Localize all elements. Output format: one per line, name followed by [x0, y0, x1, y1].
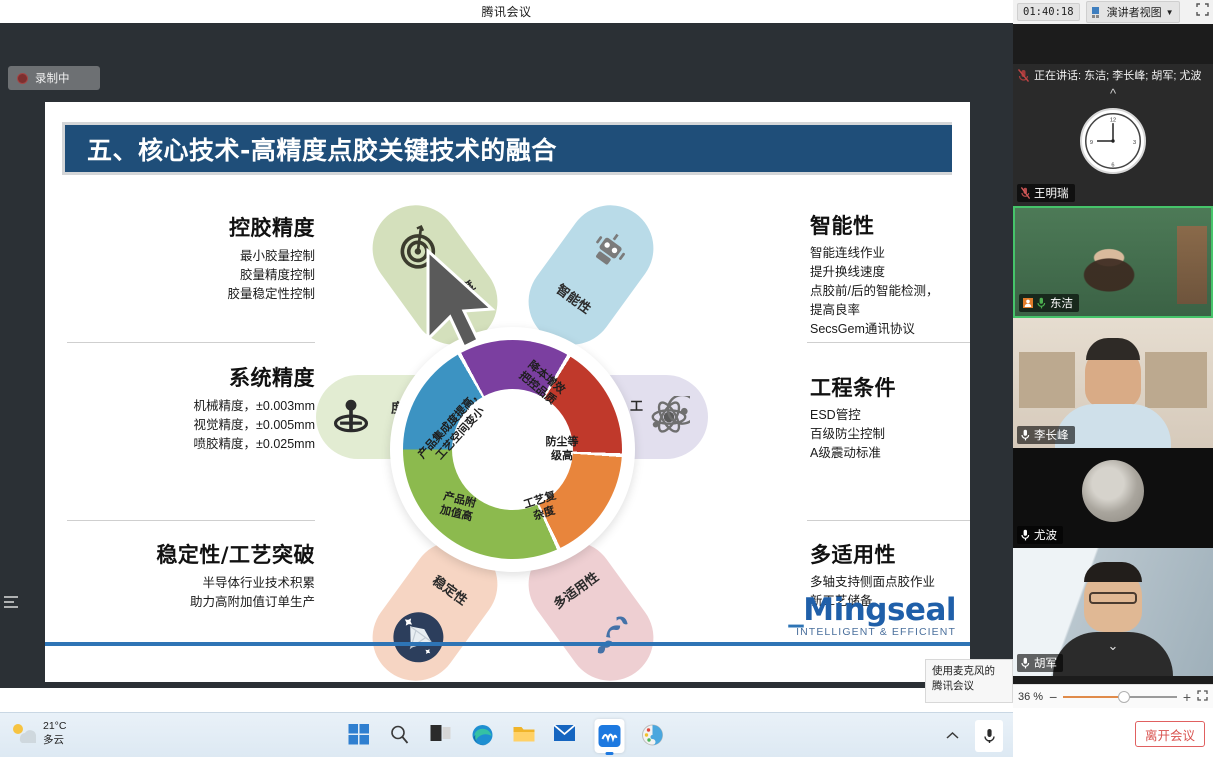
meeting-timer: 01:40:18 — [1017, 3, 1080, 21]
weather-temperature: 21°C — [43, 719, 66, 733]
petal-label: 智能性 — [534, 265, 615, 331]
microphone-icon — [1037, 297, 1046, 309]
zoom-control-bar: 36 % − + — [1013, 684, 1213, 708]
presentation-slide: 五、核心技术-高精度点胶关键技术的融合 控胶精度 最小胶量控制 胶量精度控制 胶… — [45, 102, 970, 682]
bookshelf-prop — [1177, 226, 1207, 304]
view-mode-label: 演讲者视图 — [1107, 4, 1162, 20]
window-title: 腾讯会议 — [481, 3, 531, 20]
block-heading: 稳定性/工艺突破 — [50, 539, 315, 569]
hair-shape — [1084, 562, 1142, 582]
meeting-side-panel: 01:40:18 演讲者视图 ▼ — [1013, 0, 1213, 757]
participant-name: 王明瑞 — [1034, 185, 1069, 201]
partly-cloudy-icon — [10, 721, 36, 745]
chevron-up-icon[interactable] — [946, 727, 959, 745]
microphone-muted-icon — [1021, 187, 1030, 199]
feature-block-system-precision: 系统精度 机械精度，±0.003mm 视觉精度，±0.005mm 喷胶精度，±0… — [70, 362, 315, 454]
microphone-tray-icon[interactable] — [975, 720, 1003, 752]
logo-wordmark: _Mingseal — [788, 592, 956, 628]
microphone-icon — [1021, 429, 1030, 441]
zoom-percent-label: 36 % — [1018, 691, 1043, 703]
block-heading: 多适用性 — [810, 539, 970, 569]
paint-icon[interactable] — [641, 724, 665, 748]
chevron-up-icon[interactable]: ^ — [1110, 86, 1116, 101]
feature-block-intelligence: 智能性 智能连线作业 提升换线速度 点胶前/后的智能检测， 提高良率 SecsG… — [810, 210, 970, 339]
shelf-prop — [1145, 352, 1207, 408]
edge-icon[interactable] — [471, 724, 495, 748]
svg-text:3: 3 — [1133, 140, 1136, 146]
record-dot-icon — [17, 73, 28, 84]
start-icon[interactable] — [348, 724, 372, 748]
file-explorer-icon[interactable] — [512, 724, 536, 748]
recording-indicator: 录制中 — [8, 66, 100, 90]
feature-block-stability: 稳定性/工艺突破 半导体行业技术积累 助力高附加值订单生产 — [50, 539, 315, 612]
microphone-tooltip: 使用麦克风的 腾讯会议 — [925, 659, 1013, 703]
host-badge-icon — [1023, 298, 1033, 308]
active-indicator — [605, 752, 613, 755]
block-line: A级震动标准 — [810, 444, 970, 463]
feature-block-control-precision: 控胶精度 最小胶量控制 胶量精度控制 胶量稳定性控制 — [85, 212, 315, 304]
svg-text:6: 6 — [1111, 162, 1114, 168]
slide-title-band: 五、核心技术-高精度点胶关键技术的融合 — [62, 122, 952, 175]
participant-tile-dongjie[interactable]: 东洁 — [1013, 206, 1213, 318]
system-tray — [946, 713, 1003, 757]
divider — [67, 520, 315, 521]
participant-name: 李长峰 — [1034, 427, 1069, 443]
block-line: 多轴支持侧面点胶作业 — [810, 573, 970, 592]
active-speaker-bar: 正在讲话: 东洁; 李长峰; 胡军; 尤波 — [1013, 64, 1213, 86]
leave-meeting-button[interactable]: 离开会议 — [1135, 721, 1205, 747]
meeting-footer: 离开会议 — [1013, 708, 1213, 757]
company-logo: _Mingseal INTELLIGENT & EFFICIENT — [788, 592, 956, 638]
block-line: 视觉精度，±0.005mm — [70, 416, 315, 435]
microphone-icon — [1021, 657, 1030, 669]
divider — [807, 342, 970, 343]
hexagon-petal-diagram: 控胶精度 智能性 — [310, 177, 710, 647]
block-line: 提升换线速度 — [810, 263, 970, 282]
meeting-toolbar: 01:40:18 演讲者视图 ▼ — [1013, 0, 1213, 24]
block-line: 最小胶量控制 — [85, 247, 315, 266]
block-line: 点胶前/后的智能检测， — [810, 282, 970, 301]
chevron-down-icon[interactable]: ⌄ — [1108, 638, 1119, 654]
block-line: SecsGem通讯协议 — [810, 320, 970, 339]
participant-name: 尤波 — [1034, 527, 1057, 543]
zoom-out-button[interactable]: − — [1049, 690, 1057, 704]
block-heading: 系统精度 — [70, 362, 315, 392]
glasses-shape — [1089, 592, 1137, 604]
joystick-icon — [328, 394, 374, 440]
participant-tile-wangmingrui[interactable]: ^ 12 3 6 9 王明瑞 — [1013, 86, 1213, 206]
meeting-icon[interactable] — [594, 719, 624, 753]
logo-name: Mingseal — [803, 592, 956, 628]
microphone-icon — [1021, 529, 1030, 541]
search-icon[interactable] — [389, 724, 413, 748]
logo-dash: _ — [788, 592, 803, 628]
atom-icon — [646, 394, 692, 440]
windows-taskbar: 21°C 多云 — [0, 712, 1013, 757]
svg-text:9: 9 — [1090, 140, 1093, 146]
screen-share-stage: 录制中 五、核心技术-高精度点胶关键技术的融合 控胶精度 最小胶量控制 胶量精度… — [0, 23, 1013, 688]
block-line: 提高良率 — [810, 301, 970, 320]
block-line: 喷胶精度，±0.025mm — [70, 435, 315, 454]
logo-tagline: INTELLIGENT & EFFICIENT — [788, 626, 956, 638]
block-heading: 智能性 — [810, 210, 970, 240]
divider — [807, 520, 970, 521]
divider — [67, 342, 315, 343]
participant-namebar: 东洁 — [1019, 294, 1079, 312]
microphone-muted-icon — [1018, 69, 1029, 82]
diamond-icon — [383, 602, 453, 672]
slider-knob[interactable] — [1118, 691, 1130, 703]
svg-text:12: 12 — [1110, 117, 1116, 123]
block-heading: 工程条件 — [810, 372, 970, 402]
block-line: 助力高附加值订单生产 — [50, 593, 315, 612]
puzzle-icon — [575, 600, 648, 672]
clock-avatar: 12 3 6 9 — [1080, 108, 1146, 174]
fullscreen-icon[interactable] — [1196, 3, 1209, 21]
slider-fill — [1063, 696, 1122, 698]
task-view-icon[interactable] — [430, 724, 454, 748]
participant-namebar: 王明瑞 — [1017, 184, 1075, 202]
taskbar-icon-group — [348, 713, 665, 757]
mail-icon[interactable] — [553, 724, 577, 748]
participant-name: 胡军 — [1034, 655, 1057, 671]
menu-line — [4, 601, 14, 603]
participant-namebar: 李长峰 — [1017, 426, 1075, 444]
menu-line — [4, 596, 18, 598]
statue-avatar — [1082, 460, 1144, 522]
active-speaker-text: 正在讲话: 东洁; 李长峰; 胡军; 尤波 — [1034, 67, 1201, 83]
speaker-view-icon — [1092, 7, 1103, 18]
block-line: ESD管控 — [810, 406, 970, 425]
slide-title: 五、核心技术-高精度点胶关键技术的融合 — [65, 125, 952, 172]
segment-label-dust: 防尘等级高 — [526, 435, 598, 463]
block-line: 智能连线作业 — [810, 244, 970, 263]
participant-namebar: 胡军 — [1017, 654, 1063, 672]
tooltip-line-1: 使用麦克风的 — [932, 664, 1006, 679]
fit-screen-icon[interactable] — [1197, 688, 1208, 706]
participant-name: 东洁 — [1050, 295, 1073, 311]
chevron-down-icon: ▼ — [1166, 8, 1174, 17]
menu-line — [4, 606, 18, 608]
window-title-bar: 腾讯会议 — [0, 0, 1013, 23]
robot-icon — [577, 218, 641, 282]
block-line: 胶量稳定性控制 — [85, 285, 315, 304]
mouse-cursor-icon — [420, 247, 498, 362]
block-heading: 控胶精度 — [85, 212, 315, 242]
participant-tile-lichangfeng[interactable]: 李长峰 — [1013, 318, 1213, 448]
view-mode-selector[interactable]: 演讲者视图 ▼ — [1086, 1, 1180, 23]
block-line: 百级防尘控制 — [810, 425, 970, 444]
slide-bottom-rule — [45, 642, 970, 646]
sidebar-toggle-button[interactable] — [4, 591, 24, 613]
weather-widget[interactable]: 21°C 多云 — [10, 719, 66, 747]
participant-namebar: 尤波 — [1017, 526, 1063, 544]
participant-tile-youbo[interactable]: 尤波 — [1013, 448, 1213, 548]
participant-tile-hujun[interactable]: ⌄ 胡军 — [1013, 548, 1213, 676]
recording-label: 录制中 — [35, 70, 70, 86]
block-line: 半导体行业技术积累 — [50, 574, 315, 593]
shelf-prop — [1019, 352, 1075, 408]
donut-chart: 产品集成度提高，工艺空间变小 降本增效把控品质 防尘等级高 工艺复杂度 产品附加… — [390, 327, 635, 572]
block-line: 机械精度，±0.003mm — [70, 397, 315, 416]
leave-meeting-label: 离开会议 — [1145, 725, 1195, 744]
tooltip-line-2: 腾讯会议 — [932, 679, 1006, 694]
weather-description: 多云 — [43, 733, 66, 747]
feature-block-engineering: 工程条件 ESD管控 百级防尘控制 A级震动标准 — [810, 372, 970, 463]
zoom-in-button[interactable]: + — [1183, 690, 1191, 704]
zoom-slider[interactable] — [1063, 691, 1177, 703]
block-line: 胶量精度控制 — [85, 266, 315, 285]
